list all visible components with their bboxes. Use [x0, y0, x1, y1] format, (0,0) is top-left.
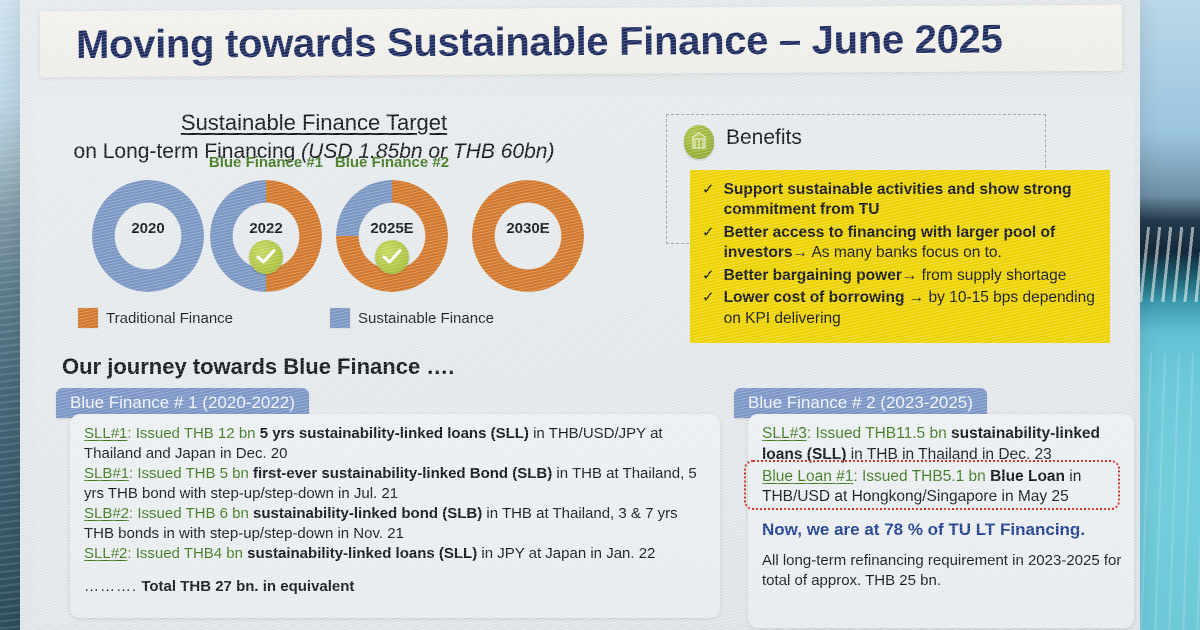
benefit-text: Better access to financing with larger p…	[724, 223, 1098, 264]
checkmark-icon: ✓	[702, 223, 715, 264]
donut-year-label: 2025E	[336, 220, 448, 237]
finance-row: SLB#2: Issued THB 6 bn sustainability-li…	[84, 504, 708, 543]
refinancing-note: All long-term refinancing requirement in…	[762, 551, 1122, 591]
finance-row-instrument: sustainability-linked bond (SLB)	[253, 505, 482, 522]
checkmark-icon: ✓	[702, 266, 715, 286]
benefit-item: ✓Better bargaining power→ from supply sh…	[702, 266, 1098, 286]
benefit-text: Support sustainable activities and show …	[724, 180, 1098, 221]
finance-row-instrument: first-ever sustainability-linked Bond (S…	[253, 465, 552, 482]
journey-heading: Our journey towards Blue Finance ….	[62, 354, 454, 380]
donut-2020: 2020	[92, 180, 204, 292]
legend-item-sustainable: Sustainable Finance	[330, 308, 494, 328]
page-title: Moving towards Sustainable Finance – Jun…	[76, 17, 1003, 68]
donut-year-label: 2022	[210, 220, 322, 237]
finance-row-tag: SLB#2	[84, 505, 129, 522]
tu-financing-status: Now, we are at 78 % of TU LT Financing.	[762, 520, 1122, 540]
finance-row-tag: SLB#1	[84, 465, 129, 482]
slide-surface: Moving towards Sustainable Finance – Jun…	[20, 0, 1140, 630]
legend-label-sustainable: Sustainable Finance	[358, 310, 494, 327]
title-banner: Moving towards Sustainable Finance – Jun…	[40, 5, 1122, 78]
checkmark-icon: ✓	[702, 288, 715, 329]
finance-row: SLL#3: Issued THB11.5 bn sustainability-…	[762, 424, 1122, 466]
benefits-title: Benefits	[726, 126, 802, 150]
total-dots: ……….	[84, 578, 137, 595]
finance-row-amount: : Issued THB11.5 bn	[807, 425, 951, 442]
chart-title-line1: Sustainable Finance Target	[34, 110, 594, 136]
checkmark-icon: ✓	[702, 180, 715, 221]
legend-swatch-traditional	[78, 308, 98, 328]
donut-2025e: Blue Finance #22025E	[336, 180, 448, 292]
check-circle-icon	[249, 240, 283, 274]
donut-year-label: 2020	[92, 220, 204, 237]
sustainable-finance-target-chart: Sustainable Finance Target on Long-term …	[34, 96, 664, 346]
benefits-highlight-box: ✓Support sustainable activities and show…	[690, 170, 1110, 343]
benefit-item: ✓Support sustainable activities and show…	[702, 180, 1098, 221]
finance-row-tag: Blue Loan #1	[762, 468, 853, 485]
finance-row-tag: SLL#3	[762, 425, 807, 442]
blue-finance-1-total: ………. Total THB 27 bn. in equivalent	[84, 578, 708, 595]
finance-row: SLL#2: Issued THB4 bn sustainability-lin…	[84, 544, 708, 564]
finance-row-instrument: 5 yrs sustainability-linked loans (SLL)	[260, 425, 529, 442]
finance-row-amount: : Issued THB 5 bn	[129, 465, 253, 482]
milestone-label: Blue Finance #2	[310, 154, 474, 171]
green-seal-icon	[684, 125, 714, 159]
finance-row: Blue Loan #1: Issued THB5.1 bn Blue Loan…	[762, 467, 1122, 509]
chart-legend: Traditional Finance Sustainable Finance	[78, 308, 638, 332]
legend-item-traditional: Traditional Finance	[78, 308, 233, 328]
finance-row-detail: in THB in Thailand in Dec. 23	[846, 446, 1051, 463]
content-card: Sustainable Finance Target on Long-term …	[34, 96, 1134, 624]
benefit-item: ✓Lower cost of borrowing → by 10-15 bps …	[702, 288, 1098, 329]
finance-row-amount: : Issued THB 12 bn	[127, 425, 259, 442]
donut-year-label: 2030E	[472, 220, 584, 237]
donut-2030e: 2030E	[472, 180, 584, 292]
finance-row: SLB#1: Issued THB 5 bn first-ever sustai…	[84, 464, 708, 503]
finance-row-amount: : Issued THB 6 bn	[129, 505, 253, 522]
check-circle-icon	[375, 240, 409, 274]
total-text: Total THB 27 bn. in equivalent	[137, 578, 354, 595]
benefit-item: ✓Better access to financing with larger …	[702, 223, 1098, 264]
benefit-text: Better bargaining power→ from supply sho…	[724, 266, 1067, 286]
ocean-photo-right	[1136, 0, 1200, 630]
blue-finance-1-body: SLL#1: Issued THB 12 bn 5 yrs sustainabi…	[70, 414, 720, 618]
finance-row-tag: SLL#2	[84, 545, 127, 562]
donut-series: 2020Blue Finance #12022Blue Finance #220…	[48, 180, 648, 300]
donut-2022: Blue Finance #12022	[210, 180, 322, 292]
finance-row-instrument: Blue Loan	[990, 468, 1065, 485]
benefit-text: Lower cost of borrowing → by 10-15 bps d…	[724, 288, 1098, 329]
legend-label-traditional: Traditional Finance	[106, 310, 233, 327]
finance-row-instrument: sustainability-linked loans (SLL)	[247, 545, 477, 562]
finance-row-amount: : Issued THB5.1 bn	[853, 468, 990, 485]
finance-row-tag: SLL#1	[84, 425, 127, 442]
blue-finance-2-body: SLL#3: Issued THB11.5 bn sustainability-…	[748, 414, 1134, 628]
finance-row: SLL#1: Issued THB 12 bn 5 yrs sustainabi…	[84, 424, 708, 463]
finance-row-detail: in JPY at Japan in Jan. 22	[477, 545, 655, 562]
benefits-panel: Benefits ✓Support sustainable activities…	[666, 114, 1076, 344]
legend-swatch-sustainable	[330, 308, 350, 328]
finance-row-amount: : Issued THB4 bn	[127, 545, 247, 562]
